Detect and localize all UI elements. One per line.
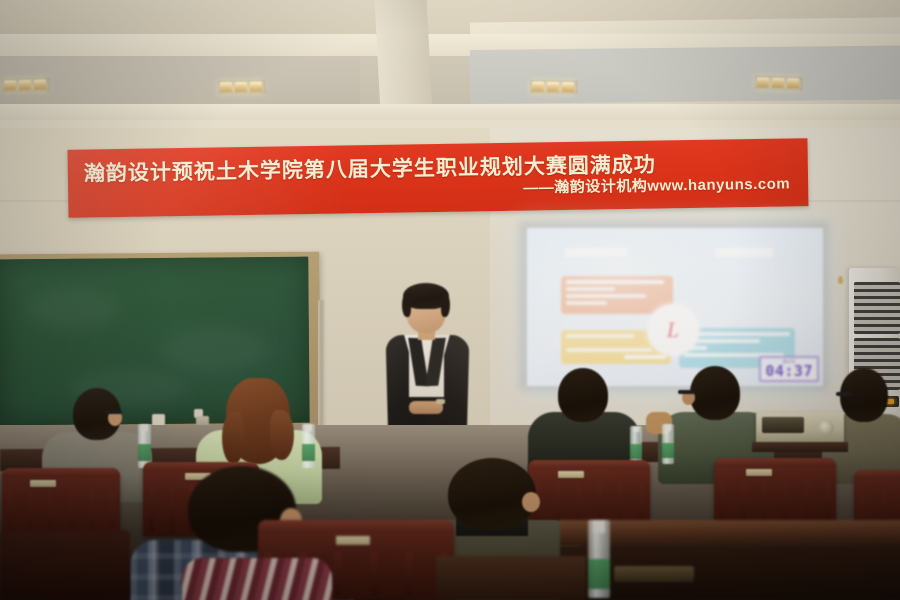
chair	[0, 530, 130, 600]
glasses-icon	[104, 410, 122, 414]
projector-lens	[818, 420, 834, 436]
slide-center-logo: L	[647, 304, 699, 356]
slide-header-right	[715, 248, 773, 257]
chair-plaque	[746, 469, 772, 476]
red-congratulation-banner: 瀚韵设计预祝土木学院第八届大学生职业规划大赛圆满成功 ——瀚韵设计机构www.h…	[68, 138, 809, 218]
attendee-striped-shirt-front	[182, 558, 332, 600]
presenter-hair-side-left	[402, 293, 411, 317]
attendee-head	[558, 368, 608, 422]
desk-front-right	[560, 520, 900, 546]
projector-vent	[762, 417, 804, 433]
ceiling-light-fixture	[218, 80, 266, 95]
presenter-wristwatch	[436, 399, 445, 404]
ceiling-light-fixture	[755, 75, 803, 90]
attendee-head	[690, 366, 740, 420]
water-bottle	[630, 426, 642, 464]
slide-block-orange	[561, 276, 673, 314]
projector-stand	[752, 442, 848, 452]
chair-plaque	[30, 480, 56, 487]
wall-hook	[838, 276, 843, 284]
glasses-icon	[836, 392, 852, 396]
slide-header-left	[565, 248, 627, 257]
attendee-hair-strand-left	[222, 412, 244, 464]
chair-plaque	[336, 536, 370, 545]
desk-shelf-items	[614, 566, 694, 582]
water-bottle	[662, 424, 674, 464]
classroom-photo: 瀚韵设计预祝土木学院第八届大学生职业规划大赛圆满成功 ——瀚韵设计机构www.h…	[0, 0, 900, 600]
presenter-hair-side-right	[441, 293, 450, 317]
projection-screen: L 倒计时 04:37	[527, 228, 823, 386]
attendee-ear	[522, 492, 540, 512]
ceiling	[0, 0, 900, 130]
ceiling-light-fixture	[2, 77, 50, 92]
desk-front-right-panel	[560, 546, 900, 600]
glasses-icon	[678, 390, 695, 394]
ac-vent-louver	[854, 282, 900, 334]
chalkboard-smudge	[159, 327, 269, 373]
water-bottle	[588, 520, 610, 598]
chalkboard-smudge	[29, 288, 119, 329]
attendee-head	[448, 458, 536, 530]
ceiling-recess-right	[470, 45, 900, 104]
slide-logo-mark: L	[667, 319, 679, 341]
ceiling-recess-left	[0, 56, 360, 104]
attendee-hair-strand-right	[270, 410, 294, 460]
attendee-torso-striped	[182, 558, 332, 600]
projector	[756, 412, 844, 444]
water-bottle	[302, 424, 315, 468]
ceiling-light-fixture	[530, 80, 578, 95]
desk-front-center	[436, 556, 586, 600]
